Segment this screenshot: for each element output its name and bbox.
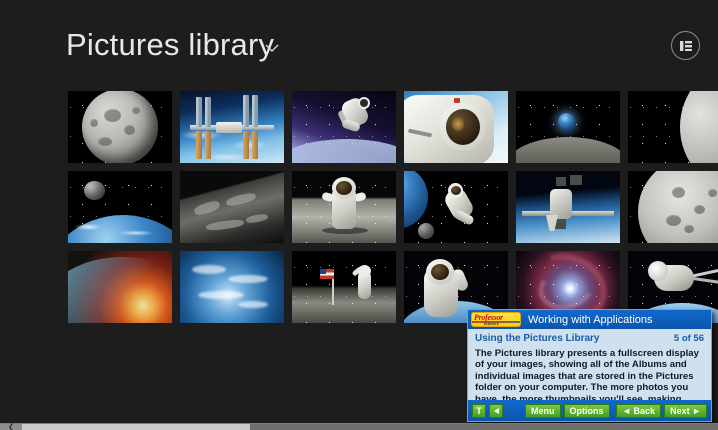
list-item[interactable]	[516, 171, 620, 243]
thumbnail-grid[interactable]	[68, 91, 718, 323]
list-item[interactable]	[292, 91, 396, 163]
list-item[interactable]	[68, 171, 172, 243]
back-button[interactable]: ◄ Back	[616, 404, 661, 418]
list-item[interactable]	[180, 251, 284, 323]
list-item[interactable]	[292, 251, 396, 323]
chevron-left-icon[interactable]: ❮	[0, 424, 22, 430]
pictures-library-app: Pictures library	[0, 0, 718, 423]
list-item[interactable]	[68, 251, 172, 323]
list-view-icon	[679, 39, 693, 53]
list-item[interactable]	[516, 91, 620, 163]
list-item[interactable]	[404, 171, 508, 243]
list-item[interactable]	[404, 91, 508, 163]
list-item[interactable]	[628, 91, 718, 163]
list-view-icon-button[interactable]	[671, 31, 700, 60]
page-title[interactable]: Pictures library	[66, 27, 274, 63]
list-item[interactable]	[628, 171, 718, 243]
list-item[interactable]	[68, 91, 172, 163]
page-counter: 5 of 56	[674, 333, 704, 344]
menu-button[interactable]: Menu	[525, 404, 561, 418]
tutorial-titlebar: Professor teaches Working with Applicati…	[468, 310, 711, 329]
list-item[interactable]	[292, 171, 396, 243]
topic-heading: Using the Pictures Library	[475, 333, 599, 344]
desktop-taskbar-strip[interactable]: ❮	[0, 423, 718, 430]
speaker-icon-button[interactable]	[489, 404, 503, 418]
professor-teaches-logo: Professor teaches	[471, 312, 521, 327]
tutorial-overlay-panel[interactable]: Professor teaches Working with Applicati…	[467, 309, 712, 422]
brand-subtitle: teaches	[484, 322, 499, 326]
list-item[interactable]	[180, 171, 284, 243]
strip-shadow	[250, 424, 718, 430]
list-item[interactable]	[180, 91, 284, 163]
text-size-button[interactable]: T	[472, 404, 486, 418]
next-button[interactable]: Next ►	[664, 404, 707, 418]
chevron-down-icon[interactable]	[264, 40, 280, 56]
topic-row: Using the Pictures Library 5 of 56	[475, 333, 704, 344]
tutorial-window-title: Working with Applications	[528, 314, 653, 326]
tutorial-toolbar: T Menu Options ◄ Back Next ►	[468, 400, 711, 421]
options-button[interactable]: Options	[564, 404, 610, 418]
speaker-icon	[494, 408, 499, 414]
app-header: Pictures library	[0, 0, 718, 88]
